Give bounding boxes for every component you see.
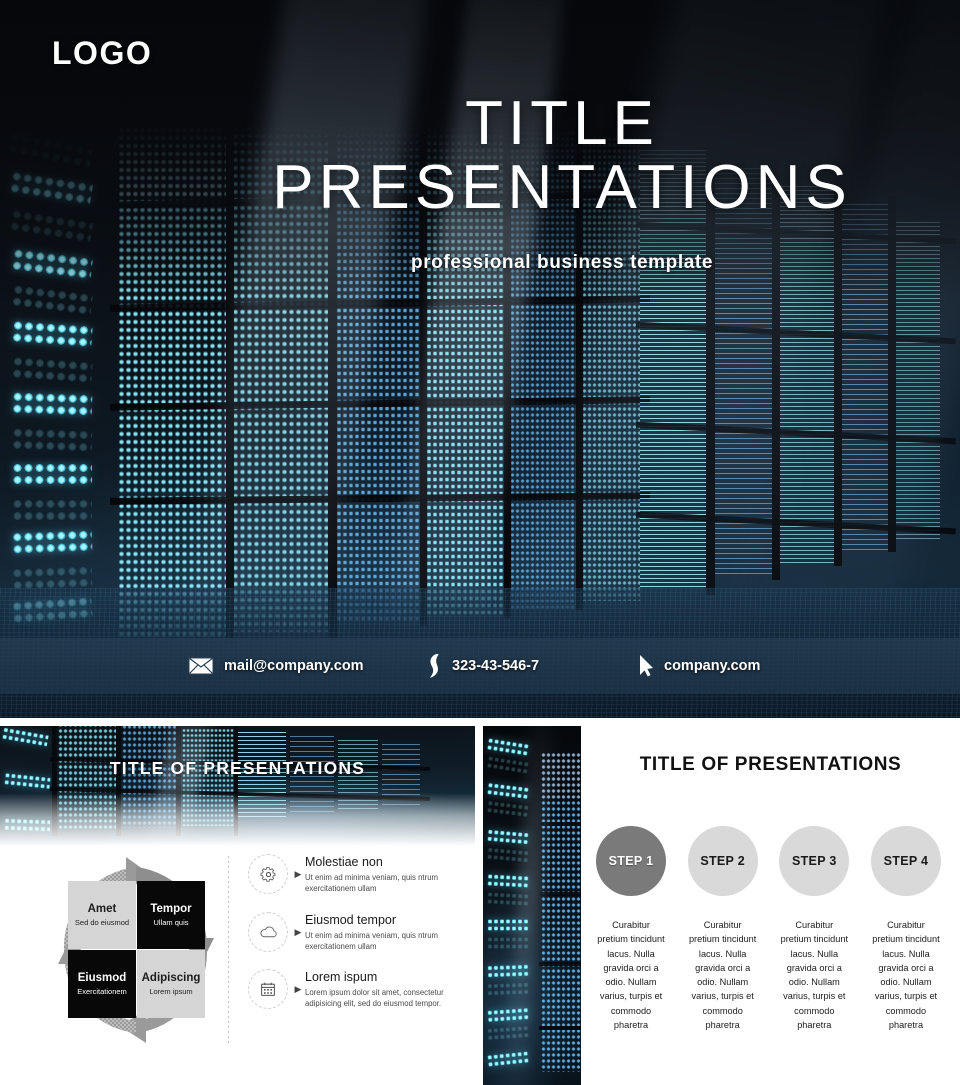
step-item[interactable]: STEP 3 Curabitur pretium tincidunt lacus… (774, 826, 854, 1032)
contact-phone-value: 323-43-546-7 (452, 658, 539, 674)
list-item-heading: Molestiae non (305, 855, 460, 870)
list-item-heading: Eiusmod tempor (305, 913, 460, 928)
contact-website[interactable]: company.com (638, 654, 760, 678)
envelope-icon (188, 657, 214, 675)
slide-title: TITLE OF PRESENTATIONS (0, 758, 475, 779)
slide-thumbnails: TITLE OF PRESENTATIONS (0, 718, 960, 1085)
list-item-body: Ut enim ad minima veniam, quis ntrum exe… (305, 930, 460, 953)
header-fade (0, 793, 475, 851)
list-item[interactable]: ▶ Lorem ispum Lorem ipsum dolor sit amet… (248, 969, 460, 1010)
step-badge[interactable]: STEP 4 (871, 826, 941, 896)
list-item-heading: Lorem ispum (305, 970, 460, 985)
cursor-icon (638, 654, 654, 678)
contact-bar: mail@company.com 323-43-546-7 company.co… (0, 638, 960, 694)
chevron-right-icon: ▶ (291, 854, 305, 880)
calendar-icon (248, 969, 288, 1009)
list-item-body: Lorem ipsum dolor sit amet, consectetur … (305, 987, 460, 1010)
step-badge[interactable]: STEP 2 (688, 826, 758, 896)
step-item[interactable]: STEP 4 Curabitur pretium tincidunt lacus… (866, 826, 946, 1032)
chevron-right-icon: ▶ (291, 912, 305, 938)
quadrant-label: Eiusmod (78, 972, 127, 985)
slide-side-image (483, 726, 581, 1085)
title-line-1: TITLE (192, 92, 932, 156)
contact-phone[interactable]: 323-43-546-7 (424, 653, 539, 679)
step-body: Curabitur pretium tincidunt lacus. Nulla… (774, 918, 854, 1032)
quadrant-label: Adipiscing (142, 972, 201, 985)
slide-header-image: TITLE OF PRESENTATIONS (0, 726, 475, 851)
quadrant-sub: Exercitationem (77, 987, 127, 996)
contact-website-value: company.com (664, 658, 760, 674)
list-item-body: Ut enim ad minima veniam, quis ntrum exe… (305, 872, 460, 895)
cycle-quadrant[interactable]: Amet Sed do eiusmod (68, 881, 136, 949)
quadrant-label: Tempor (150, 903, 191, 916)
step-badge[interactable]: STEP 3 (779, 826, 849, 896)
list-item[interactable]: ▶ Eiusmod tempor Ut enim ad minima venia… (248, 912, 460, 953)
step-item[interactable]: STEP 2 Curabitur pretium tincidunt lacus… (683, 826, 763, 1032)
slide-cycle-diagram[interactable]: TITLE OF PRESENTATIONS (0, 726, 475, 1085)
list-item[interactable]: ▶ Molestiae non Ut enim ad minima veniam… (248, 854, 460, 895)
cycle-diagram: Amet Sed do eiusmod Tempor Ullam quis Ei… (42, 854, 230, 1046)
step-body: Curabitur pretium tincidunt lacus. Nulla… (866, 918, 946, 1032)
page-title: TITLE PRESENTATIONS (192, 92, 932, 220)
cloud-icon (248, 912, 288, 952)
gear-icon (248, 854, 288, 894)
logo: LOGO (52, 35, 152, 72)
steps-row: STEP 1 Curabitur pretium tincidunt lacus… (591, 826, 946, 1032)
quadrant-label: Amet (88, 903, 117, 916)
subtitle: professional business template (192, 252, 932, 274)
hero-slide: LOGO TITLE PRESENTATIONS professional bu… (0, 0, 960, 718)
contact-email[interactable]: mail@company.com (188, 657, 364, 675)
phone-icon (424, 653, 442, 679)
chevron-right-icon: ▶ (291, 969, 305, 995)
feature-list: ▶ Molestiae non Ut enim ad minima veniam… (248, 854, 460, 1027)
quadrant-sub: Lorem ipsum (149, 987, 192, 996)
step-body: Curabitur pretium tincidunt lacus. Nulla… (683, 918, 763, 1032)
cycle-quadrant[interactable]: Adipiscing Lorem ipsum (137, 950, 205, 1018)
step-body: Curabitur pretium tincidunt lacus. Nulla… (591, 918, 671, 1032)
cycle-quadrant[interactable]: Eiusmod Exercitationem (68, 950, 136, 1018)
cycle-quadrant[interactable]: Tempor Ullam quis (137, 881, 205, 949)
quadrant-sub: Ullam quis (153, 918, 188, 927)
vertical-divider (228, 856, 229, 1044)
title-line-2: PRESENTATIONS (192, 156, 932, 220)
contact-email-value: mail@company.com (224, 658, 364, 674)
slide-steps[interactable]: TITLE OF PRESENTATIONS STEP 1 Curabitur … (481, 726, 960, 1085)
quadrant-sub: Sed do eiusmod (75, 918, 129, 927)
step-item[interactable]: STEP 1 Curabitur pretium tincidunt lacus… (591, 826, 671, 1032)
slide-title: TITLE OF PRESENTATIONS (581, 754, 960, 776)
step-badge[interactable]: STEP 1 (596, 826, 666, 896)
